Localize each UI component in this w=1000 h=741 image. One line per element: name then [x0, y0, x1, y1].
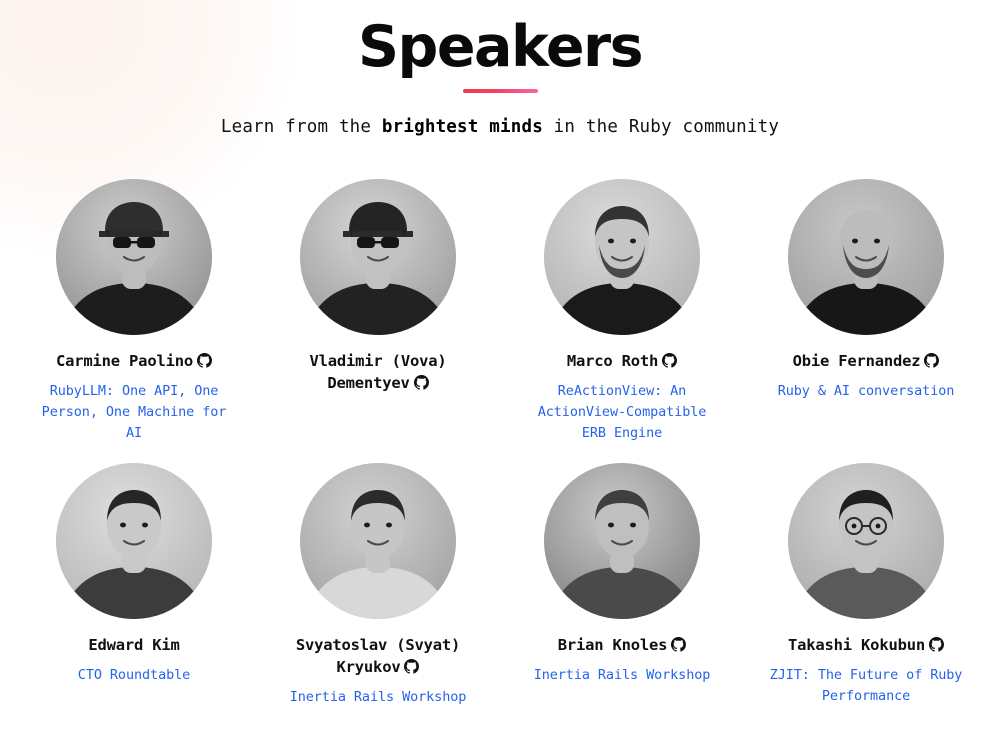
github-icon[interactable] [662, 353, 677, 368]
speaker-name: Vladimir (Vova) Dementyev [283, 350, 473, 394]
github-icon[interactable] [671, 637, 686, 652]
subtitle-prefix: Learn from the [221, 117, 382, 137]
speakers-page: Speakers Learn from the brightest minds … [0, 0, 1000, 741]
github-icon[interactable] [924, 353, 939, 368]
speaker-avatar [300, 179, 456, 335]
speaker-talk-title[interactable]: Inertia Rails Workshop [290, 687, 467, 708]
speaker-card[interactable]: Obie FernandezRuby & AI conversation [744, 179, 988, 445]
speaker-avatar [56, 179, 212, 335]
speaker-avatar [788, 463, 944, 619]
speaker-name: Carmine Paolino [56, 350, 212, 372]
github-icon[interactable] [414, 375, 429, 390]
speaker-name: Takashi Kokubun [788, 634, 944, 656]
speaker-avatar [300, 463, 456, 619]
speaker-card[interactable]: Edward KimCTO Roundtable [12, 463, 256, 708]
speaker-talk-title[interactable]: Ruby & AI conversation [778, 381, 955, 402]
speaker-talk-title[interactable]: ZJIT: The Future of Ruby Performance [768, 665, 964, 708]
speaker-name-text: Takashi Kokubun [788, 636, 925, 654]
speaker-card[interactable]: Marco RothReActionView: An ActionView-Co… [500, 179, 744, 445]
speaker-name-text: Brian Knoles [558, 636, 668, 654]
speaker-talk-title[interactable]: RubyLLM: One API, One Person, One Machin… [36, 381, 232, 445]
speaker-avatar [788, 179, 944, 335]
speaker-card[interactable]: Brian KnolesInertia Rails Workshop [500, 463, 744, 708]
page-subtitle: Learn from the brightest minds in the Ru… [0, 117, 1000, 137]
speaker-name-text: Marco Roth [567, 352, 658, 370]
speaker-name: Edward Kim [88, 634, 179, 656]
speaker-talk-title[interactable]: ReActionView: An ActionView-Compatible E… [524, 381, 720, 445]
subtitle-emphasis: brightest minds [382, 117, 543, 137]
speaker-name-text: Svyatoslav (Svyat) Kryukov [296, 636, 460, 676]
speaker-avatar [544, 179, 700, 335]
speaker-card[interactable]: Takashi KokubunZJIT: The Future of Ruby … [744, 463, 988, 708]
github-icon[interactable] [929, 637, 944, 652]
title-accent-rule [463, 89, 538, 93]
speaker-name-text: Carmine Paolino [56, 352, 193, 370]
speaker-avatar [544, 463, 700, 619]
speaker-name: Brian Knoles [558, 634, 687, 656]
speaker-card[interactable]: Svyatoslav (Svyat) KryukovInertia Rails … [256, 463, 500, 708]
page-title: Speakers [0, 16, 1000, 80]
speakers-grid: Carmine PaolinoRubyLLM: One API, One Per… [0, 179, 1000, 708]
speaker-talk-title[interactable]: Inertia Rails Workshop [534, 665, 711, 686]
speaker-name: Svyatoslav (Svyat) Kryukov [283, 634, 473, 678]
speaker-name-text: Edward Kim [88, 636, 179, 654]
subtitle-suffix: in the Ruby community [543, 117, 779, 137]
speaker-name-text: Obie Fernandez [793, 352, 921, 370]
speaker-name: Obie Fernandez [793, 350, 940, 372]
page-header: Speakers Learn from the brightest minds … [0, 0, 1000, 137]
github-icon[interactable] [197, 353, 212, 368]
speaker-card[interactable]: Vladimir (Vova) Dementyev [256, 179, 500, 445]
speaker-name: Marco Roth [567, 350, 677, 372]
speaker-avatar [56, 463, 212, 619]
speaker-card[interactable]: Carmine PaolinoRubyLLM: One API, One Per… [12, 179, 256, 445]
github-icon[interactable] [404, 659, 419, 674]
speaker-talk-title[interactable]: CTO Roundtable [78, 665, 190, 686]
